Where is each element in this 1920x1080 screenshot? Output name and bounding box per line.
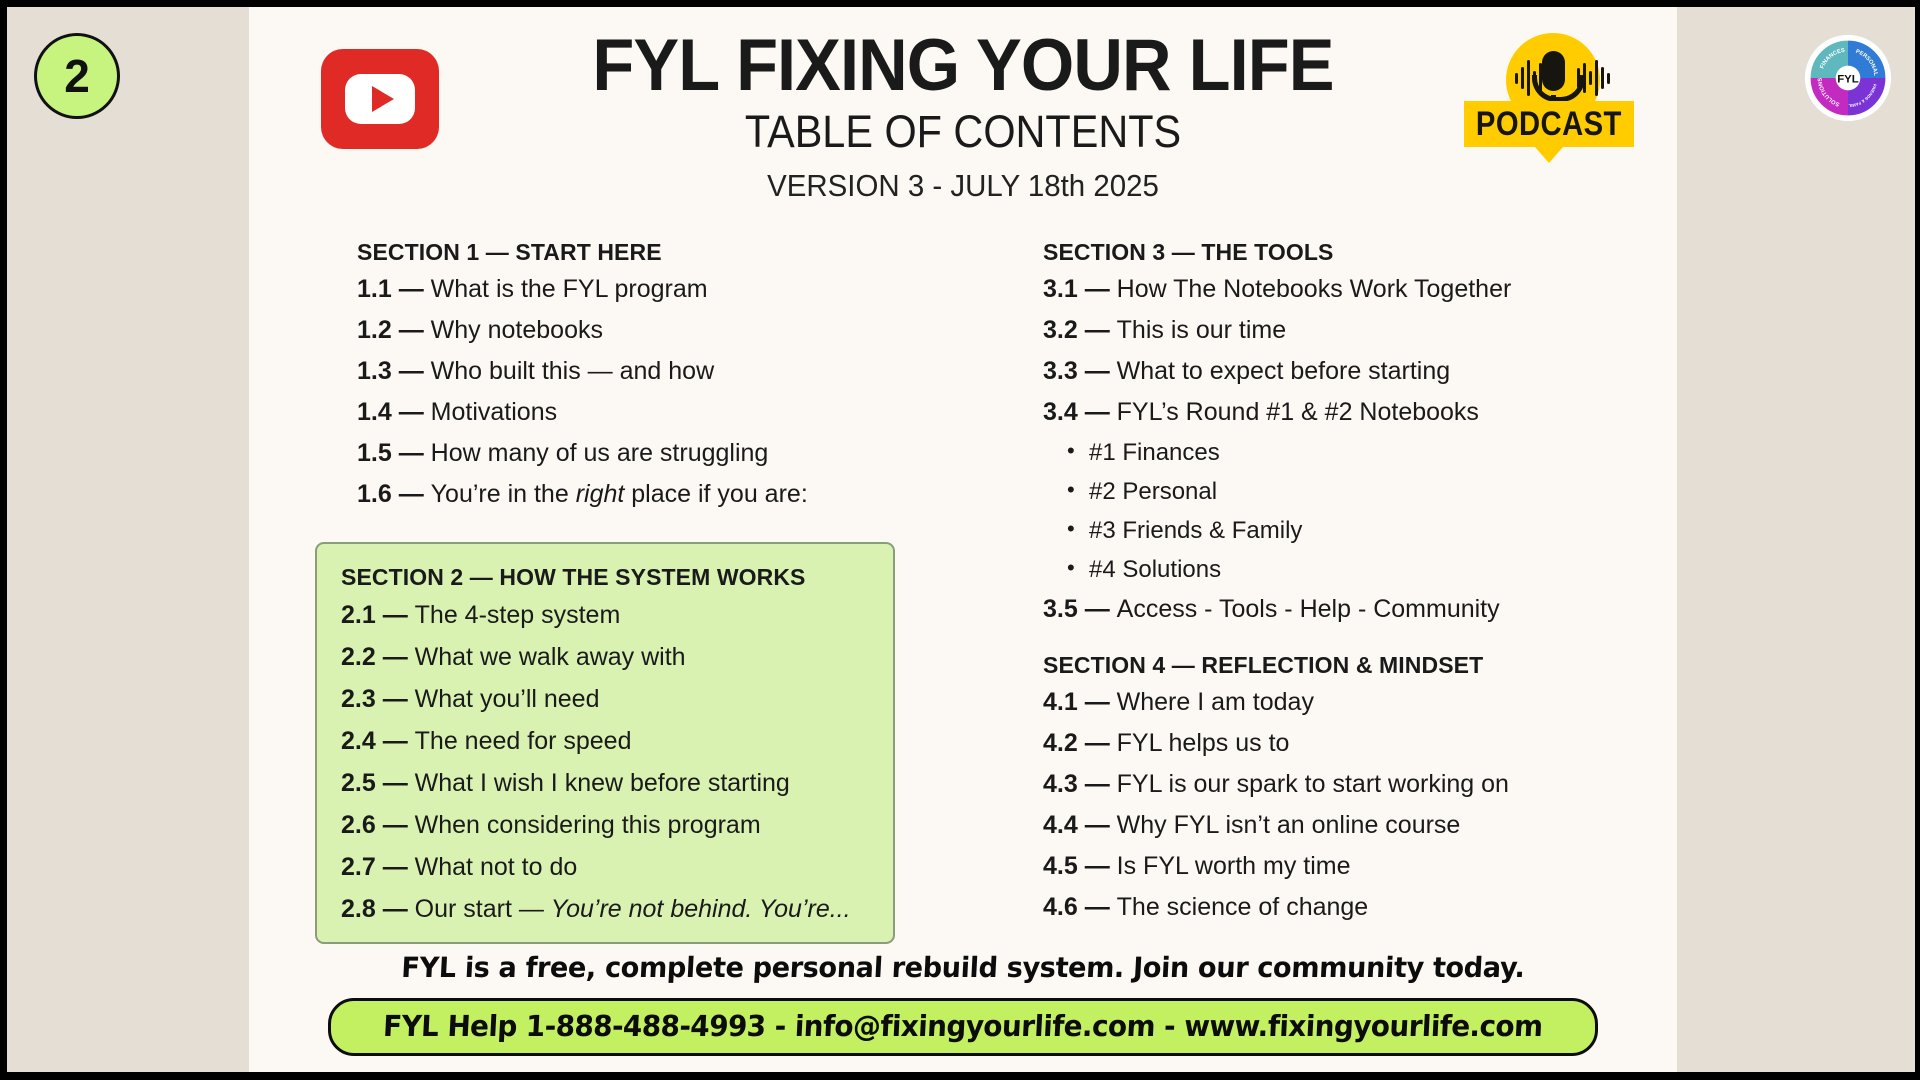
toc-item-number: 2.6 — — [341, 811, 415, 839]
page-number-label: 2 — [64, 49, 90, 103]
toc-item[interactable]: 4.6 — The science of change — [1043, 895, 1643, 920]
toc-item-text: FYL is our spark to start working on — [1117, 770, 1509, 798]
toc-item-number: 1.6 — — [357, 480, 431, 508]
toc-item-text: The 4-step system — [415, 601, 621, 629]
toc-column-left: SECTION 1 — START HERE 1.1 — What is the… — [357, 239, 957, 523]
toc-item[interactable]: 4.3 — FYL is our spark to start working … — [1043, 772, 1643, 797]
toc-item-text: What is the FYL program — [431, 275, 708, 303]
toc-item-number: 2.2 — — [341, 643, 415, 671]
toc-item[interactable]: 1.4 — Motivations — [357, 400, 957, 425]
toc-item-text: Our start — — [415, 895, 551, 923]
toc-item[interactable]: 4.2 — FYL helps us to — [1043, 731, 1643, 756]
toc-item[interactable]: 2.1 — The 4-step system — [341, 603, 869, 628]
toc-item-emphasis: right — [576, 480, 625, 508]
toc-item-number: 4.3 — — [1043, 770, 1117, 798]
podcast-label: PODCAST — [1476, 105, 1622, 144]
toc-item-number: 4.5 — — [1043, 852, 1117, 880]
toc-item[interactable]: 2.8 — Our start — You’re not behind. You… — [341, 897, 869, 922]
toc-item[interactable]: 2.7 — What not to do — [341, 855, 869, 880]
toc-item-text: Where I am today — [1117, 688, 1314, 716]
section-4-heading: SECTION 4 — REFLECTION & MINDSET — [1043, 652, 1643, 679]
toc-item[interactable]: 1.6 — You’re in the right place if you a… — [357, 482, 957, 507]
section-2-box: SECTION 2 — HOW THE SYSTEM WORKS 2.1 — T… — [315, 542, 895, 944]
toc-item-text: Why FYL isn’t an online course — [1117, 811, 1461, 839]
toc-item-number: 3.3 — — [1043, 357, 1117, 385]
toc-column-right: SECTION 3 — THE TOOLS 3.1 — How The Note… — [1043, 239, 1643, 936]
toc-item-text: What to expect before starting — [1117, 357, 1451, 385]
page-number-badge: 2 — [34, 33, 120, 119]
toc-item[interactable]: 1.5 — How many of us are struggling — [357, 441, 957, 466]
toc-bullet-item[interactable]: #4 Solutions — [1089, 558, 1643, 582]
toc-item-number: 1.2 — — [357, 316, 431, 344]
page-title: FYL FIXING YOUR LIFE — [292, 29, 1634, 102]
title-block: FYL FIXING YOUR LIFE TABLE OF CONTENTS V… — [249, 29, 1677, 204]
toc-item[interactable]: 1.3 — Who built this — and how — [357, 359, 957, 384]
toc-item[interactable]: 1.2 — Why notebooks — [357, 318, 957, 343]
toc-item-text: Motivations — [431, 398, 557, 426]
toc-item[interactable]: 2.5 — What I wish I knew before starting — [341, 771, 869, 796]
document-header: FYL FIXING YOUR LIFE TABLE OF CONTENTS V… — [249, 7, 1677, 229]
podcast-banner-tail — [1535, 147, 1563, 163]
version-line: VERSION 3 - JULY 18th 2025 — [285, 168, 1642, 204]
toc-item[interactable]: 2.4 — The need for speed — [341, 729, 869, 754]
toc-item-number: 3.4 — — [1043, 398, 1117, 426]
toc-item-text: What we walk away with — [415, 643, 686, 671]
toc-bullet-item[interactable]: #2 Personal — [1089, 480, 1643, 504]
toc-item-number: 3.2 — — [1043, 316, 1117, 344]
contact-text: FYL Help 1-888-488-4993 - info@fixingyou… — [382, 1009, 1543, 1043]
section-1-heading: SECTION 1 — START HERE — [357, 239, 957, 266]
section-4-items: 4.1 — Where I am today4.2 — FYL helps us… — [1043, 690, 1643, 920]
toc-item-text: Is FYL worth my time — [1117, 852, 1351, 880]
toc-item-number: 1.5 — — [357, 439, 431, 467]
toc-item[interactable]: 2.2 — What we walk away with — [341, 645, 869, 670]
section-3-items: 3.1 — How The Notebooks Work Together3.2… — [1043, 277, 1643, 622]
podcast-banner: PODCAST — [1464, 101, 1634, 147]
toc-item-text: What not to do — [415, 853, 578, 881]
toc-item-number: 2.8 — — [341, 895, 415, 923]
toc-columns: SECTION 1 — START HERE 1.1 — What is the… — [249, 239, 1677, 939]
toc-item-number: 2.4 — — [341, 727, 415, 755]
toc-item-text: How many of us are struggling — [431, 439, 769, 467]
toc-item-text: FYL’s Round #1 & #2 Notebooks — [1117, 398, 1479, 426]
toc-item[interactable]: 4.1 — Where I am today — [1043, 690, 1643, 715]
toc-item-number: 1.1 — — [357, 275, 431, 303]
podcast-badge[interactable]: PODCAST — [1464, 33, 1634, 163]
toc-item[interactable]: 1.1 — What is the FYL program — [357, 277, 957, 302]
toc-item-text: The science of change — [1117, 893, 1369, 921]
toc-item-number: 2.5 — — [341, 769, 415, 797]
toc-item-text: You’re in the — [431, 480, 576, 508]
toc-item[interactable]: 3.1 — How The Notebooks Work Together — [1043, 277, 1643, 302]
toc-item-text: Who built this — and how — [431, 357, 714, 385]
toc-item-number: 2.1 — — [341, 601, 415, 629]
fyl-logo-center-text: FYL — [1837, 73, 1859, 85]
toc-item[interactable]: 2.6 — When considering this program — [341, 813, 869, 838]
toc-bullet-list: #1 Finances#2 Personal#3 Friends & Famil… — [1043, 441, 1643, 582]
toc-item[interactable]: 3.4 — FYL’s Round #1 & #2 Notebooks — [1043, 400, 1643, 425]
toc-item[interactable]: 3.5 — Access - Tools - Help - Community — [1043, 597, 1643, 622]
toc-item-number: 4.6 — — [1043, 893, 1117, 921]
toc-item-text: What you’ll need — [415, 685, 600, 713]
page-subtitle: TABLE OF CONTENTS — [306, 106, 1620, 158]
page-sheet: 2 FYL FIXING YOUR LIFE TABLE OF CONTENTS… — [7, 7, 1915, 1072]
toc-item-number: 4.1 — — [1043, 688, 1117, 716]
section-1-items: 1.1 — What is the FYL program1.2 — Why n… — [357, 277, 957, 507]
toc-item-number: 2.3 — — [341, 685, 415, 713]
toc-bullet-item[interactable]: #3 Friends & Family — [1089, 519, 1643, 543]
section-2-heading: SECTION 2 — HOW THE SYSTEM WORKS — [341, 564, 869, 591]
toc-item-number: 3.5 — — [1043, 595, 1117, 623]
toc-item-number: 3.1 — — [1043, 275, 1117, 303]
toc-item-emphasis: You’re not behind. You’re... — [551, 895, 851, 923]
section-3-heading: SECTION 3 — THE TOOLS — [1043, 239, 1643, 266]
toc-item[interactable]: 4.5 — Is FYL worth my time — [1043, 854, 1643, 879]
toc-item-text: How The Notebooks Work Together — [1117, 275, 1512, 303]
toc-item-number: 1.3 — — [357, 357, 431, 385]
document-footer: FYL is a free, complete personal rebuild… — [249, 951, 1677, 1056]
toc-item-text: What I wish I knew before starting — [415, 769, 790, 797]
toc-item-text: Access - Tools - Help - Community — [1117, 595, 1500, 623]
page-frame: 2 FYL FIXING YOUR LIFE TABLE OF CONTENTS… — [0, 0, 1920, 1080]
toc-item[interactable]: 3.2 — This is our time — [1043, 318, 1643, 343]
toc-item-text: FYL helps us to — [1117, 729, 1290, 757]
toc-item[interactable]: 2.3 — What you’ll need — [341, 687, 869, 712]
toc-item-number: 4.2 — — [1043, 729, 1117, 757]
toc-item[interactable]: 4.4 — Why FYL isn’t an online course — [1043, 813, 1643, 838]
fyl-wheel-logo: FYL FINANCES PERSONAL FRIENDS & FAMILY S… — [1804, 34, 1892, 122]
toc-item-number: 2.7 — — [341, 853, 415, 881]
footer-tagline: FYL is a free, complete personal rebuild… — [400, 951, 1525, 984]
toc-item-number: 1.4 — — [357, 398, 431, 426]
toc-item-text: This is our time — [1117, 316, 1286, 344]
contact-bar[interactable]: FYL Help 1-888-488-4993 - info@fixingyou… — [328, 998, 1598, 1056]
toc-item-text-tail: place if you are: — [624, 480, 807, 508]
toc-item-text: The need for speed — [415, 727, 632, 755]
toc-item-number: 4.4 — — [1043, 811, 1117, 839]
toc-item[interactable]: 3.3 — What to expect before starting — [1043, 359, 1643, 384]
toc-item-text: When considering this program — [415, 811, 761, 839]
section-2-items: 2.1 — The 4-step system2.2 — What we wal… — [341, 603, 869, 922]
toc-bullet-item[interactable]: #1 Finances — [1089, 441, 1643, 465]
toc-item-text: Why notebooks — [431, 316, 603, 344]
fyl-wheel-svg: FYL FINANCES PERSONAL FRIENDS & FAMILY S… — [1804, 34, 1892, 122]
